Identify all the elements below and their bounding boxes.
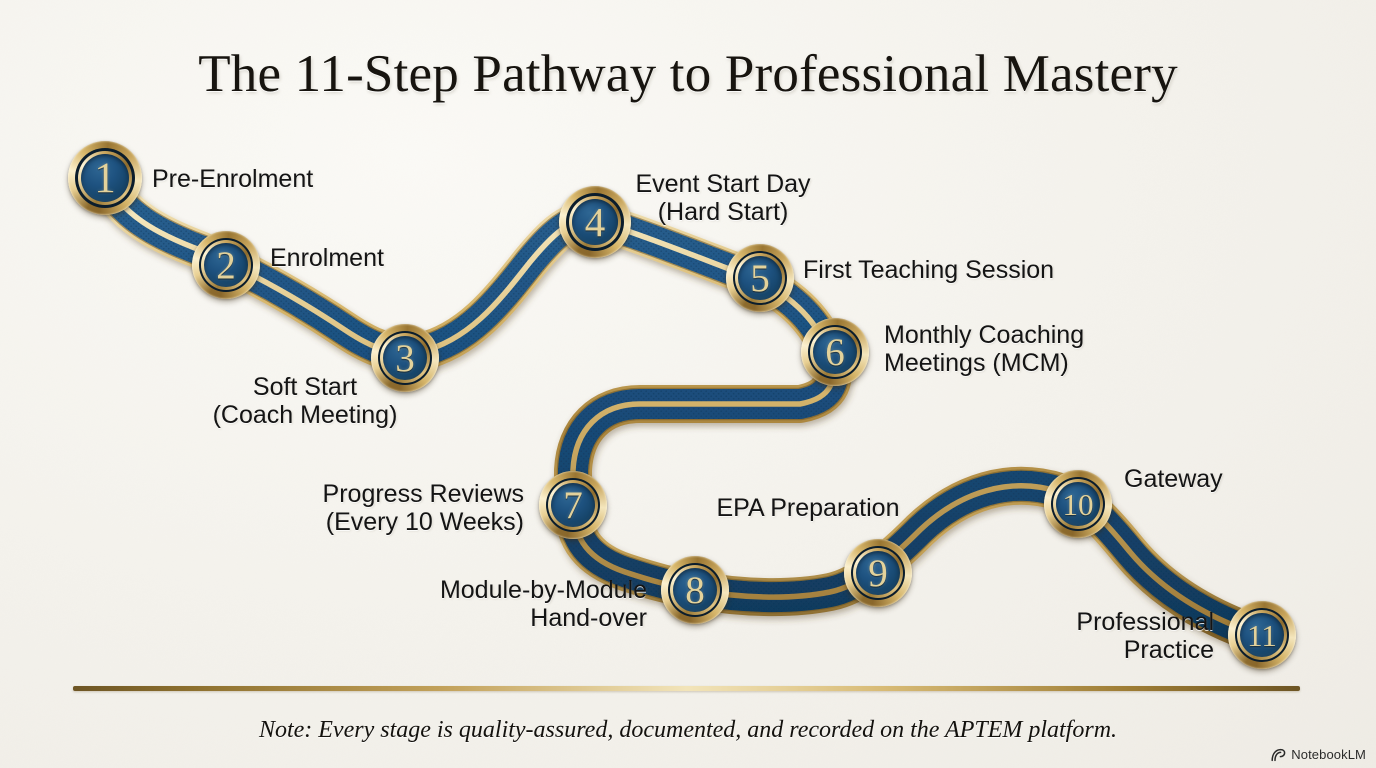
notebooklm-label: NotebookLM: [1291, 747, 1366, 762]
step-node-5[interactable]: 5: [726, 244, 794, 312]
notebooklm-watermark: NotebookLM: [1270, 747, 1366, 762]
node-face: 6: [813, 330, 857, 374]
node-face: 7: [551, 483, 595, 527]
step-node-6[interactable]: 6: [801, 318, 869, 386]
step-node-2[interactable]: 2: [192, 231, 260, 299]
step-number: 1: [94, 157, 116, 200]
step-node-8[interactable]: 8: [661, 556, 729, 624]
step-number: 6: [825, 333, 845, 372]
step-number: 2: [216, 246, 236, 285]
footer-note: Note: Every stage is quality-assured, do…: [0, 717, 1376, 744]
infographic-slide: The 11-Step Pathway to Professional Mast…: [0, 0, 1376, 768]
step-label-11: Professional Practice: [1052, 608, 1214, 664]
step-number: 7: [563, 486, 583, 525]
notebook-spiral-icon: [1270, 748, 1286, 762]
node-face: 1: [81, 154, 129, 202]
node-face: 4: [572, 199, 618, 245]
step-label-1: Pre-Enrolment: [152, 165, 313, 193]
step-node-9[interactable]: 9: [844, 539, 912, 607]
node-face: 2: [204, 243, 248, 287]
step-number: 3: [395, 339, 415, 378]
step-label-5: First Teaching Session: [803, 256, 1054, 284]
step-label-2: Enrolment: [270, 244, 384, 272]
step-number: 4: [585, 202, 606, 243]
step-node-1[interactable]: 1: [68, 141, 142, 215]
step-label-6: Monthly Coaching Meetings (MCM): [884, 321, 1084, 377]
step-node-7[interactable]: 7: [539, 471, 607, 539]
step-node-4[interactable]: 4: [559, 186, 631, 258]
step-label-3: Soft Start (Coach Meeting): [213, 373, 398, 429]
node-face: 11: [1240, 613, 1284, 657]
step-label-7: Progress Reviews (Every 10 Weeks): [323, 480, 524, 536]
node-face: 8: [673, 568, 717, 612]
step-label-4: Event Start Day (Hard Start): [635, 170, 810, 226]
node-face: 5: [738, 256, 782, 300]
step-node-11[interactable]: 11: [1228, 601, 1296, 669]
step-number: 5: [750, 259, 770, 298]
step-number: 9: [868, 554, 888, 593]
step-label-10: Gateway: [1124, 465, 1223, 493]
step-label-8: Module-by-Module Hand-over: [440, 576, 647, 632]
gold-divider: [73, 686, 1300, 691]
step-node-10[interactable]: 10: [1044, 470, 1112, 538]
step-label-9: EPA Preparation: [717, 494, 900, 522]
step-number: 10: [1063, 489, 1094, 520]
step-number: 11: [1247, 620, 1277, 651]
step-number: 8: [685, 571, 705, 610]
node-face: 9: [856, 551, 900, 595]
node-face: 10: [1056, 482, 1100, 526]
